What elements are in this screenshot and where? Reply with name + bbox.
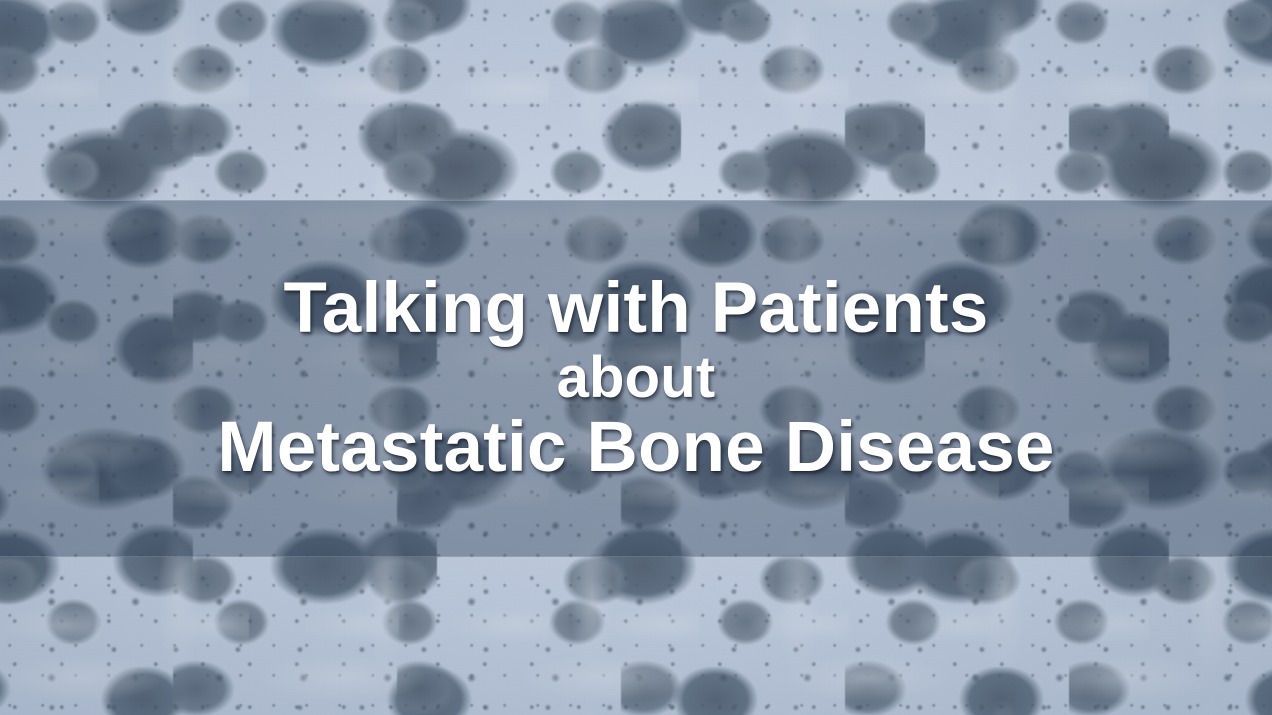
title-slide: Talking with Patients about Metastatic B… <box>0 0 1272 715</box>
title-line-1: Talking with Patients <box>283 272 988 346</box>
title-line-3: Metastatic Bone Disease <box>217 410 1054 485</box>
slide-title: Talking with Patients about Metastatic B… <box>0 200 1272 557</box>
title-line-2: about <box>557 346 716 410</box>
